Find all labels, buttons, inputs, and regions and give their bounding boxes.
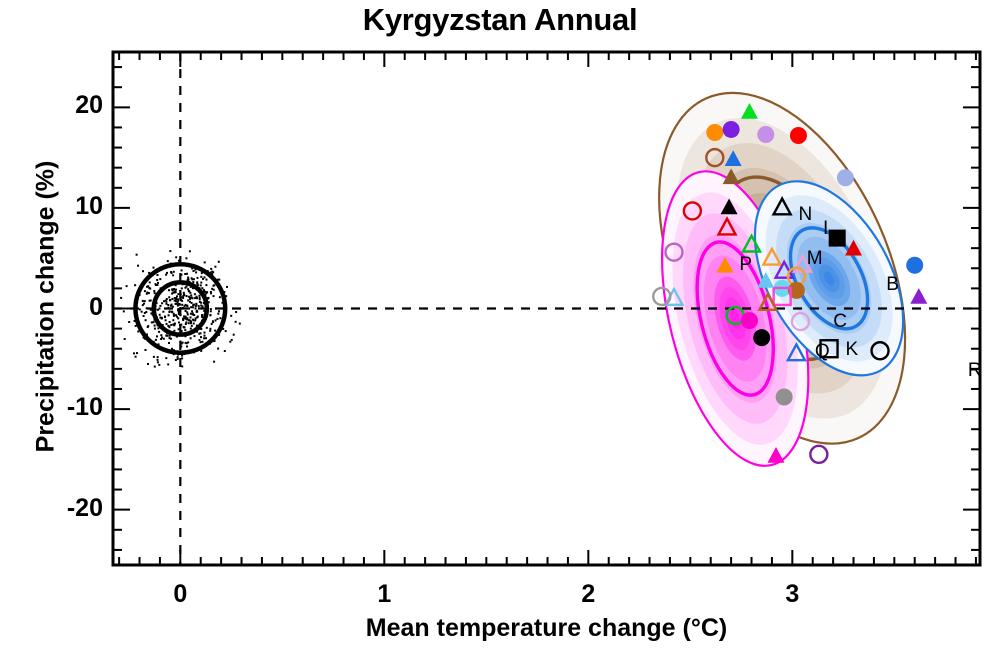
model-letter-label-R: R (968, 361, 982, 380)
y-tick-label--20: -20 (13, 494, 103, 523)
x-tick-label-0: 0 (150, 580, 210, 609)
model-letter-label-M: M (807, 249, 823, 268)
model-letter-label-C: C (833, 312, 847, 331)
model-marker-circle-filled-32 (753, 329, 770, 346)
model-letter-label-I: I (823, 219, 828, 238)
y-tick-label-0: 0 (13, 293, 103, 322)
model-letter-label-P: P (739, 255, 752, 274)
plot-area (0, 0, 1000, 657)
model-letter-label-Q: Q (815, 342, 830, 361)
x-tick-label-3: 3 (762, 580, 822, 609)
y-tick-label-10: 10 (13, 192, 103, 221)
x-tick-label-1: 1 (354, 580, 414, 609)
model-marker-circle-filled-0 (706, 124, 723, 141)
model-marker-circle-filled-8 (837, 169, 854, 186)
model-marker-circle-filled-38 (776, 389, 793, 406)
y-tick-label--10: -10 (13, 393, 103, 422)
model-marker-square-filled-17 (829, 230, 846, 247)
x-tick-label-2: 2 (558, 580, 618, 609)
model-letter-label-B: B (886, 275, 899, 294)
model-marker-circle-filled-3 (757, 126, 774, 143)
model-marker-circle-filled-1 (723, 121, 740, 138)
model-marker-circle-filled-31 (741, 312, 758, 329)
model-marker-triangle-filled-33 (910, 288, 927, 304)
model-marker-circle-filled-22 (906, 257, 923, 274)
chart-canvas: Kyrgyzstan Annual Precipitation change (… (0, 0, 1000, 657)
model-marker-circle-open-39 (810, 446, 827, 463)
model-letter-label-K: K (845, 340, 858, 359)
y-tick-label-20: 20 (13, 91, 103, 120)
model-marker-circle-filled-4 (790, 127, 807, 144)
model-letter-label-N: N (799, 205, 813, 224)
